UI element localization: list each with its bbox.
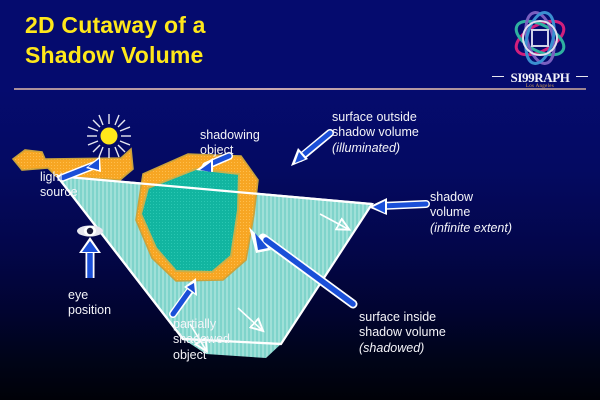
arrow-shadow-volume xyxy=(368,198,426,215)
label-surface-inside: surface inside shadow volume (shadowed) xyxy=(359,310,446,356)
label-partially-shadowed-object: partially shadowed object xyxy=(173,317,230,363)
slide-canvas: 2D Cutaway of a Shadow Volume SI99RAPH L… xyxy=(0,0,600,400)
title-line-1: 2D Cutaway of a xyxy=(25,10,455,40)
sun-icon xyxy=(87,114,131,158)
label-surface-inside-note: (shadowed) xyxy=(359,341,446,356)
label-light-source: light source xyxy=(40,170,78,201)
title-line-2: Shadow Volume xyxy=(25,40,455,70)
label-shadow-volume: shadow volume (infinite extent) xyxy=(430,190,512,236)
label-shadow-volume-note: (infinite extent) xyxy=(430,221,512,236)
label-surface-outside-note: (illuminated) xyxy=(332,141,419,156)
shadow-volume-diagram xyxy=(0,96,600,400)
page-title: 2D Cutaway of a Shadow Volume xyxy=(25,10,455,71)
arrow-eye-position xyxy=(79,237,101,278)
logo-rings-icon xyxy=(488,4,592,74)
siggraph-logo: SI99RAPH Los Angeles xyxy=(488,4,592,100)
eye-icon xyxy=(77,226,103,237)
arrow-surface-outside xyxy=(291,133,330,166)
label-shadowing-object: shadowing object xyxy=(200,128,260,159)
label-surface-outside: surface outside shadow volume (illuminat… xyxy=(332,110,419,156)
logo-city: Los Angeles xyxy=(488,84,592,89)
label-eye-position: eye position xyxy=(68,288,111,319)
